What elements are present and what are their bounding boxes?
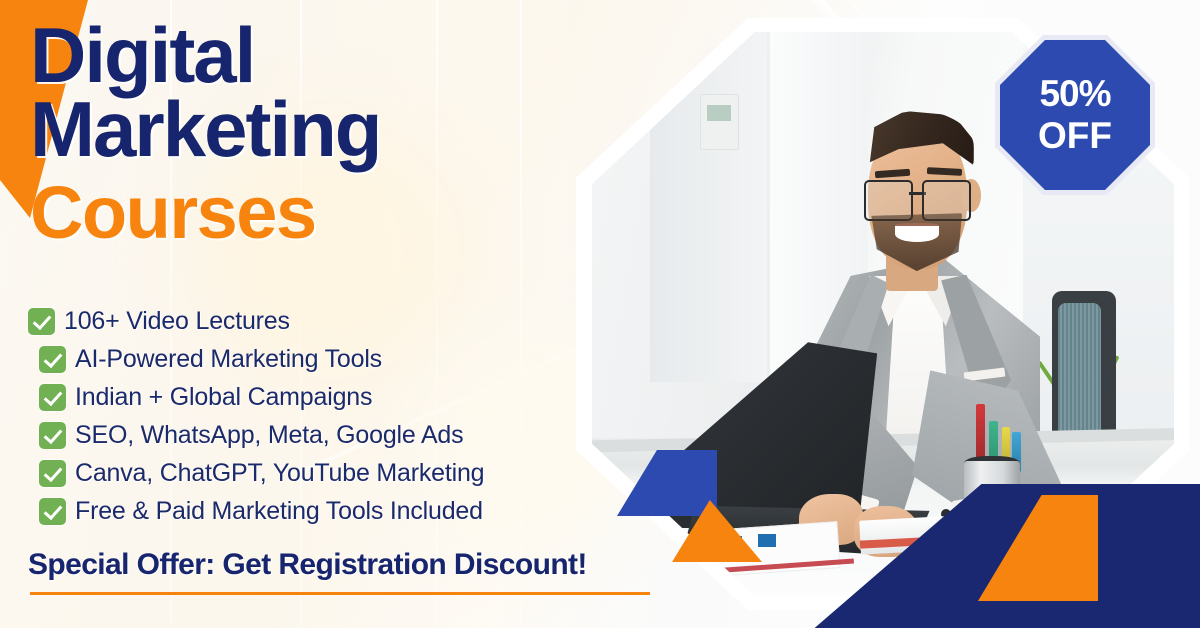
check-box-icon	[39, 384, 66, 411]
feature-label: 106+ Video Lectures	[64, 307, 290, 336]
check-box-icon	[39, 422, 66, 449]
check-box-icon	[39, 460, 66, 487]
feature-label: SEO, WhatsApp, Meta, Google Ads	[75, 421, 463, 450]
special-offer-text: Special Offer: Get Registration Discount…	[28, 548, 587, 582]
check-box-icon	[39, 346, 66, 373]
discount-percent: 50%	[1039, 75, 1110, 114]
feature-item: Canva, ChatGPT, YouTube Marketing	[39, 457, 484, 489]
discount-label: OFF	[1038, 117, 1112, 156]
desk-sticky-note	[758, 534, 777, 548]
check-box-icon	[39, 498, 66, 525]
feature-item: Indian + Global Campaigns	[39, 381, 484, 413]
person-smile	[895, 226, 939, 242]
feature-label: Free & Paid Marketing Tools Included	[75, 497, 483, 526]
headline-highlight: Courses	[30, 174, 570, 252]
feature-list: 106+ Video Lectures AI-Powered Marketing…	[28, 305, 484, 527]
eyeglasses-icon	[864, 180, 971, 217]
feature-item: SEO, WhatsApp, Meta, Google Ads	[39, 419, 484, 451]
feature-item: AI-Powered Marketing Tools	[39, 343, 484, 375]
discount-badge[interactable]: 50% OFF	[1000, 40, 1150, 190]
feature-item: 106+ Video Lectures	[28, 305, 484, 337]
check-box-icon	[28, 308, 55, 335]
headline-line-2: Marketing	[30, 92, 570, 166]
feature-item: Free & Paid Marketing Tools Included	[39, 495, 484, 527]
feature-label: Indian + Global Campaigns	[75, 383, 372, 412]
headline-line-1: Digital	[30, 18, 570, 92]
feature-label: AI-Powered Marketing Tools	[75, 345, 382, 374]
feature-label: Canva, ChatGPT, YouTube Marketing	[75, 459, 484, 488]
promo-banner: Digital Marketing Courses 106+ Video Lec…	[0, 0, 1200, 628]
offer-underline	[30, 592, 650, 595]
wall-thermostat-icon	[700, 94, 739, 150]
headline-group: Digital Marketing Courses	[30, 18, 570, 252]
